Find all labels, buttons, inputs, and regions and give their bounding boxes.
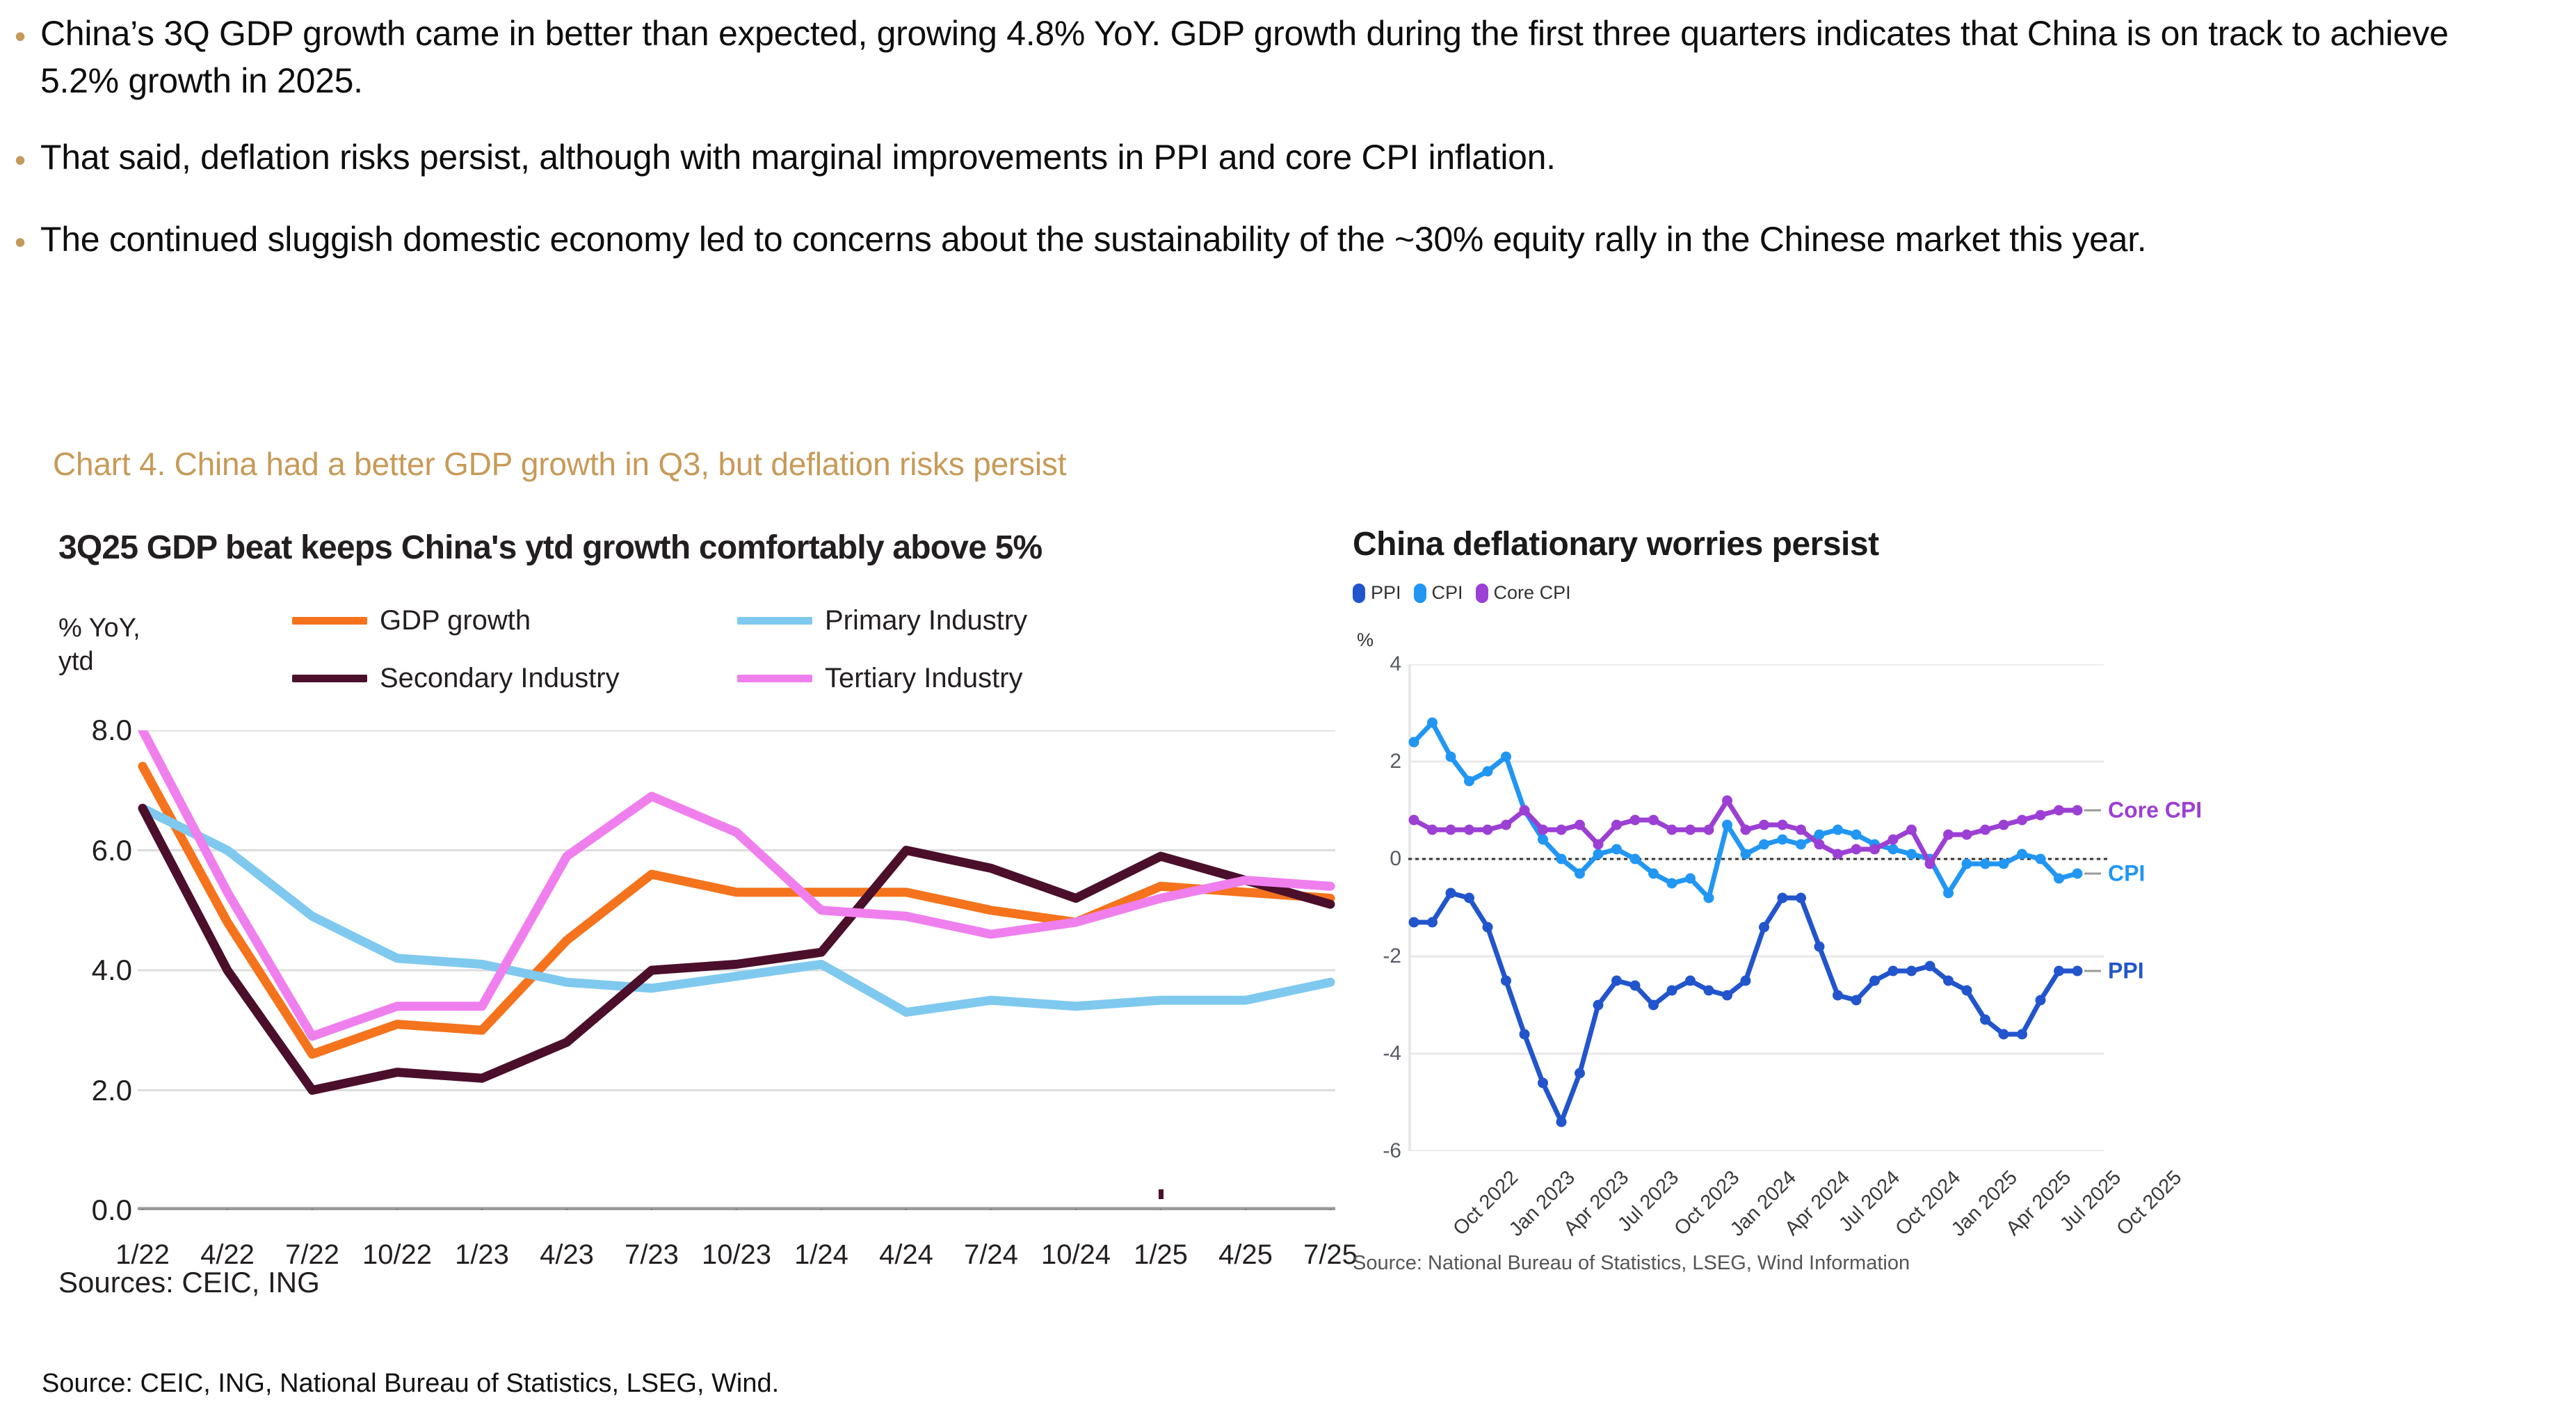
legend-label: PPI (1371, 582, 1401, 604)
y-tick-label: 2.0 (92, 1074, 132, 1107)
left-y-axis-title: % YoY, ytd (58, 612, 177, 678)
bullet-text: China’s 3Q GDP growth came in better tha… (40, 10, 2531, 104)
legend-label: Secondary Industry (380, 663, 620, 694)
x-tick-label: 4/24 (879, 1239, 933, 1271)
left-chart-source: Sources: CEIC, ING (58, 1266, 320, 1299)
left-chart-plot: 0.02.04.06.08.0 1/224/227/2210/221/234/2… (49, 730, 1356, 1210)
left-x-axis-ticks: 1/224/227/2210/221/234/237/2310/231/244/… (138, 1217, 1335, 1259)
y-tick-label: 8.0 (92, 714, 132, 747)
x-tick-label: 1/24 (794, 1239, 848, 1271)
legend-label: GDP growth (380, 605, 531, 636)
left-y-axis-ticks: 0.02.04.06.08.0 (49, 730, 132, 1210)
left-chart-panel: 3Q25 GDP beat keeps China's ytd growth c… (49, 529, 1356, 1315)
legend-label: Tertiary Industry (825, 663, 1023, 694)
x-tick-label: 10/23 (702, 1239, 771, 1271)
y-tick-label: -6 (1383, 1139, 1401, 1163)
chart-caption: Chart 4. China had a better GDP growth i… (53, 445, 1066, 483)
legend-swatch-icon (1476, 584, 1488, 603)
x-tick-label: 10/22 (362, 1239, 432, 1271)
x-tick-label: 4/25 (1218, 1239, 1273, 1271)
bullet-item: • The continued sluggish domestic econom… (0, 216, 2531, 268)
legend-item-ppi[interactable]: PPI (1353, 582, 1401, 604)
y-tick-label: -2 (1383, 945, 1401, 968)
series-end-label-core-cpi: Core CPI (2108, 798, 2202, 824)
y-tick-label: 4.0 (92, 954, 132, 987)
right-y-axis-ticks: -6-4-2024 (1353, 664, 1401, 1151)
legend-swatch-icon (1353, 584, 1365, 603)
y-tick-label: 0 (1390, 847, 1401, 871)
legend-swatch-icon (1414, 584, 1426, 603)
bullet-item: • That said, deflation risks persist, al… (0, 134, 2531, 186)
legend-swatch-icon (292, 617, 367, 625)
legend-label: Primary Industry (825, 605, 1027, 636)
y-tick-label: 2 (1390, 750, 1401, 773)
right-chart-plot: -6-4-2024 Oct 2022Jan 2023Apr 2023Jul 20… (1353, 664, 2535, 1193)
x-tick-label: 1/23 (455, 1239, 509, 1271)
bullet-item: • China’s 3Q GDP growth came in better t… (0, 10, 2531, 104)
legend-item-cpi[interactable]: CPI (1414, 582, 1463, 604)
legend-swatch-icon (292, 675, 367, 682)
y-tick-label: 4 (1390, 652, 1401, 676)
y-tick-label: 6.0 (92, 834, 132, 867)
right-chart-svg (1408, 664, 2285, 1151)
right-chart-panel: China deflationary worries persist PPI C… (1353, 525, 2535, 1346)
series-end-label-cpi: CPI (2108, 861, 2145, 887)
legend-item-primary-industry[interactable]: Primary Industry (737, 605, 1182, 636)
bullet-text: That said, deflation risks persist, alth… (40, 134, 2531, 181)
right-chart-source: Source: National Bureau of Statistics, L… (1353, 1252, 1910, 1275)
bullet-text: The continued sluggish domestic economy … (40, 216, 2531, 263)
left-chart-svg (138, 730, 1335, 1210)
legend-label: Core CPI (1494, 582, 1571, 604)
legend-label: CPI (1432, 582, 1463, 604)
legend-item-core-cpi[interactable]: Core CPI (1476, 582, 1571, 604)
legend-item-gdp-growth[interactable]: GDP growth (292, 605, 737, 636)
right-chart-legend: PPI CPI Core CPI (1353, 582, 1584, 604)
right-chart-title: China deflationary worries persist (1353, 525, 1879, 563)
right-y-axis-title: % (1357, 629, 1374, 651)
x-tick-label: 4/23 (540, 1239, 594, 1271)
x-tick-label: 7/24 (964, 1239, 1018, 1271)
page-source-note: Source: CEIC, ING, National Bureau of St… (42, 1369, 779, 1399)
x-tick-label: 10/24 (1041, 1239, 1111, 1271)
legend-swatch-icon (737, 617, 812, 625)
x-tick-label: Oct 2025 (2112, 1166, 2187, 1241)
left-chart-title: 3Q25 GDP beat keeps China's ytd growth c… (58, 529, 1042, 567)
bullet-marker-icon: • (0, 134, 40, 186)
series-end-label-ppi: PPI (2108, 958, 2144, 984)
legend-swatch-icon (737, 675, 812, 682)
x-tick-label: 1/25 (1134, 1239, 1188, 1271)
legend-item-tertiary-industry[interactable]: Tertiary Industry (737, 663, 1182, 694)
y-tick-label: 0.0 (92, 1194, 132, 1227)
x-tick-label: 7/25 (1303, 1239, 1358, 1271)
legend-item-secondary-industry[interactable]: Secondary Industry (292, 663, 737, 694)
left-chart-legend: GDP growth Primary Industry Secondary In… (292, 605, 1182, 694)
bullet-list: • China’s 3Q GDP growth came in better t… (0, 10, 2531, 298)
x-tick-label: 7/23 (625, 1239, 679, 1271)
bullet-marker-icon: • (0, 216, 40, 268)
bullet-marker-icon: • (0, 10, 40, 63)
y-tick-label: -4 (1383, 1042, 1401, 1066)
